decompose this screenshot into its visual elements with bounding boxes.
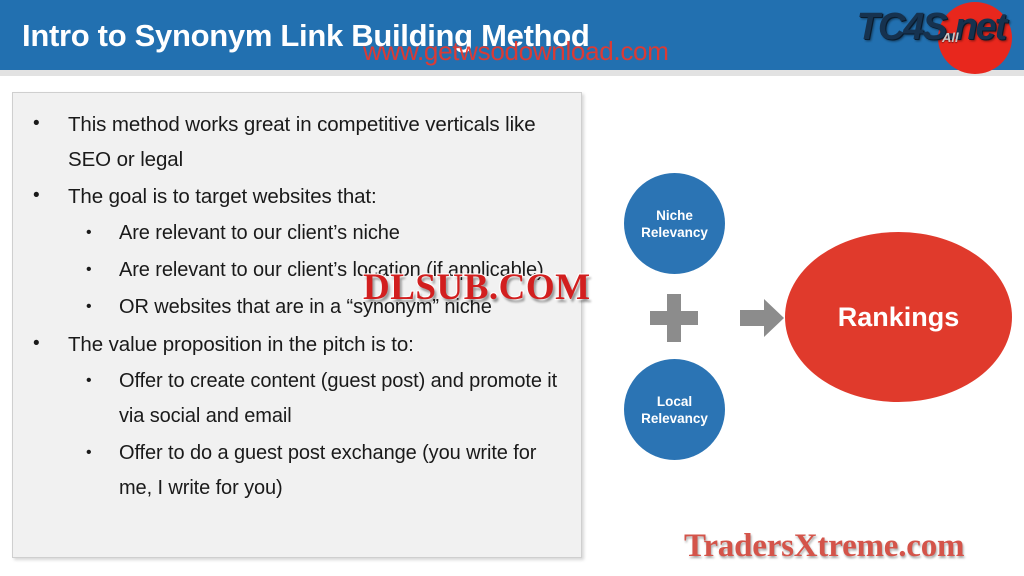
diagram-node-local-label: Local Relevancy [641, 393, 708, 427]
diagram-node-rankings: Rankings [785, 232, 1012, 402]
diagram-node-rankings-label: Rankings [838, 302, 960, 333]
diagram-node-niche-relevancy: Niche Relevancy [624, 173, 725, 274]
plus-icon [650, 294, 698, 342]
local-label-line1: Local [657, 394, 692, 409]
arrow-right-icon [740, 299, 784, 337]
diagram-node-niche-label: Niche Relevancy [641, 207, 708, 241]
concept-diagram: Niche Relevancy Local Relevancy Rankings [0, 0, 1024, 576]
slide-canvas: Intro to Synonym Link Building Method ww… [0, 0, 1024, 576]
diagram-node-local-relevancy: Local Relevancy [624, 359, 725, 460]
watermark-tradersxtreme: TradersXtreme.com [684, 526, 964, 566]
niche-label-line2: Relevancy [641, 225, 708, 240]
local-label-line2: Relevancy [641, 411, 708, 426]
niche-label-line1: Niche [656, 208, 693, 223]
